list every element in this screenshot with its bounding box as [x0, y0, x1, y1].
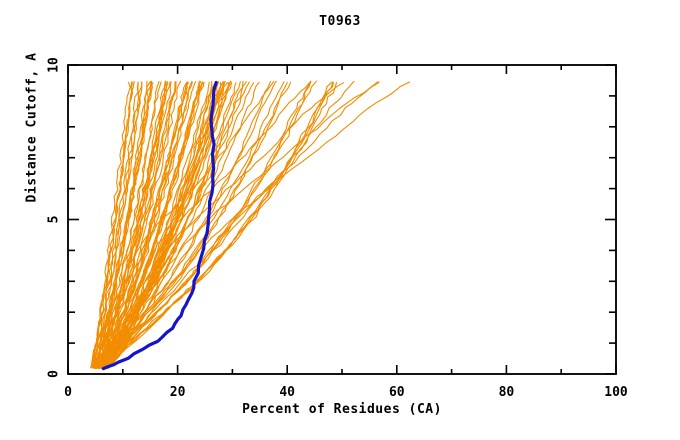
- x-tick-label: 20: [170, 385, 186, 400]
- prediction-curves: [91, 81, 410, 369]
- data-layer: [91, 81, 410, 369]
- plot-figure: T0963 Distance Cutoff, A Percent of Resi…: [0, 0, 680, 440]
- x-tick-label: 0: [64, 385, 72, 400]
- x-tick-label: 40: [279, 385, 295, 400]
- plot-canvas: 0204060801000510: [0, 0, 680, 440]
- prediction-curve: [103, 82, 288, 367]
- x-tick-label: 100: [604, 385, 628, 400]
- x-tick-label: 80: [499, 385, 515, 400]
- chart-svg: 0204060801000510: [0, 0, 680, 440]
- y-tick-label: 5: [47, 216, 62, 224]
- x-tick-label: 60: [389, 385, 405, 400]
- y-tick-label: 0: [47, 370, 62, 378]
- y-tick-label: 10: [47, 57, 62, 73]
